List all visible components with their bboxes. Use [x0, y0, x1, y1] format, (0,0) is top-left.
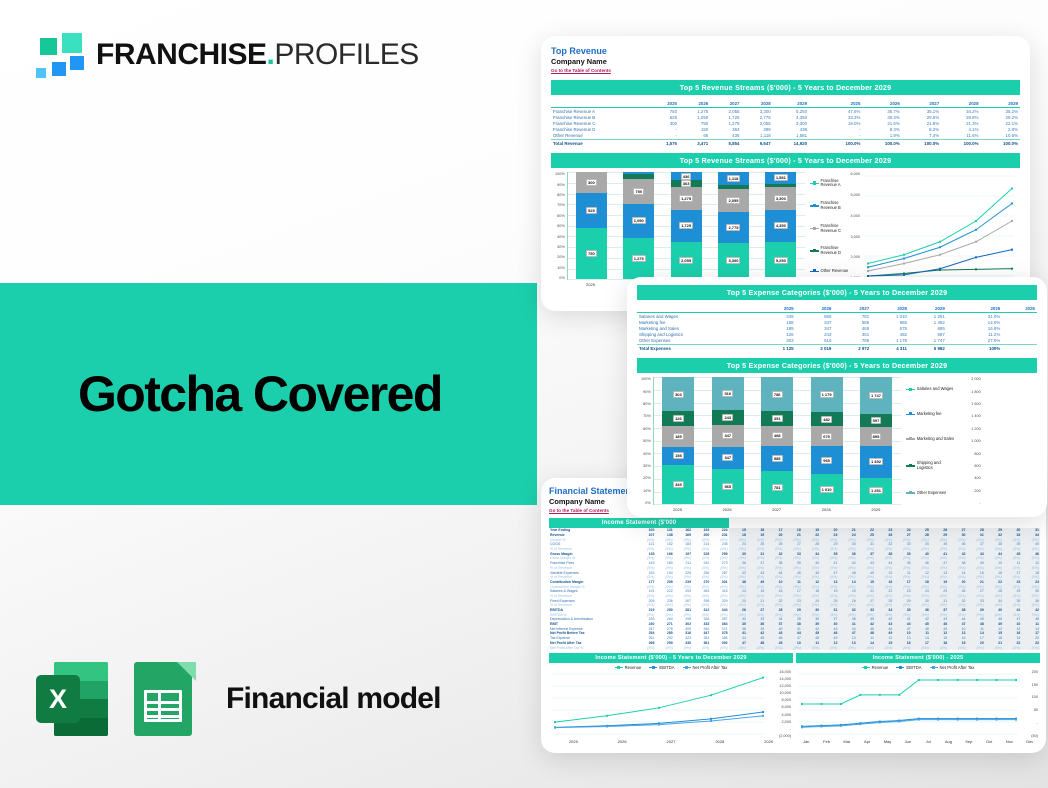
bar-segment: 3,300: [765, 187, 796, 211]
axis-tick: Dec: [1020, 739, 1040, 744]
bar-value-label: 1,050: [632, 217, 646, 224]
axis-tick: 2025: [575, 282, 606, 287]
grid-cell: (9%): [893, 645, 911, 650]
axis-tick: -: [1020, 721, 1038, 725]
axis-tick: (2,000): [767, 734, 791, 738]
bar-value-label: 597: [871, 417, 882, 424]
bar-segment: 516: [712, 377, 744, 409]
axis-tick: 600: [955, 464, 981, 468]
bar-value-label: 347: [722, 432, 733, 439]
bar-segment: 468: [761, 426, 793, 446]
bar-value-label: 189: [673, 433, 684, 440]
bar-segment: 5,250: [765, 242, 796, 280]
bar-value-label: 4,350: [774, 222, 788, 229]
axis-tick: 10,000: [767, 691, 791, 695]
excel-letter: X: [36, 675, 80, 723]
bar-stack: 1 7475978951 4921 251: [860, 377, 892, 504]
axis-tick: Sep: [959, 739, 979, 744]
axis-tick: 20%: [641, 476, 651, 480]
legend-label: Marketing fee: [917, 412, 942, 417]
legend-item: Franchise Revenue C: [810, 224, 851, 233]
brand-name-bold: FRANCHISE: [96, 38, 267, 71]
table-row: Other Expenses 303516 7861 179 1 747 27.…: [637, 338, 1037, 345]
table-header-row: 2025 2026 2027 2028 2029 2025 2026 2027 …: [551, 100, 1020, 108]
revenue-chart-legend: Franchise Revenue AFranchise Revenue BFr…: [805, 172, 851, 280]
spreadsheet-card-top-revenue[interactable]: Top Revenue Company Name Go to the Table…: [541, 36, 1030, 311]
legend-label: Other Revenue: [821, 269, 849, 274]
brand-logo: FRANCHISE.PROFILES: [30, 30, 419, 80]
axis-tick: 1 200: [955, 427, 981, 431]
grid-cell: (5%): [692, 645, 710, 650]
axis-tick: 70%: [641, 414, 651, 418]
legend-label: Shipping and Logistics: [917, 461, 955, 470]
legend-item: Franchise Revenue A: [810, 179, 851, 188]
bar-segment: 1 010: [811, 474, 843, 504]
axis-tick: Oct: [979, 739, 999, 744]
axis-tick: -: [767, 727, 791, 731]
axis-tick: 10%: [555, 266, 565, 270]
product-formats: X Financial model: [36, 662, 441, 736]
axis-tick: 0%: [641, 501, 651, 505]
bar-segment: 2,055: [718, 189, 749, 212]
bar-segment: 347: [712, 447, 744, 469]
axis-tick: 200: [955, 489, 981, 493]
bar-value-label: 1 492: [869, 458, 883, 465]
revenue-table-band: Top 5 Revenue Streams ($'000) - 5 Years …: [551, 80, 1020, 95]
bar-segment: 436: [671, 172, 702, 180]
bar-value-label: 1,581: [774, 174, 788, 181]
table-row: Net Profit After Tax %(5%)(9%)(9%)(5%)(9…: [549, 645, 1040, 650]
income-monthly-xaxis: JanFebMarAprMayJunJulAugSepOctNovDec: [796, 739, 1040, 744]
grid-cell: (5%): [637, 645, 655, 650]
axis-tick: Mar: [837, 739, 857, 744]
axis-tick: 5,000: [850, 193, 860, 197]
legend-item: Salaries and Wages: [906, 387, 955, 392]
bar-value-label: 585: [772, 455, 783, 462]
table-row: Franchise Revenue A 7501,275 2,0553,300 …: [551, 108, 1020, 115]
revenue-charts: 100%90%80%70%60%50%40%30%20%10%0% 300525…: [551, 172, 1020, 293]
bar-value-label: 1 010: [820, 486, 834, 493]
brand-wordmark: FRANCHISE.PROFILES: [96, 38, 419, 72]
axis-tick: 2027: [761, 507, 793, 512]
axis-tick: -: [955, 501, 981, 505]
grid-cell: (5%): [912, 645, 930, 650]
axis-tick: 2029: [753, 739, 785, 744]
axis-tick: 30%: [641, 464, 651, 468]
legend-item: Other Revenue: [810, 269, 851, 274]
axis-tick: 2,000: [850, 255, 860, 259]
bar-segment: 1,581: [765, 172, 796, 183]
table-total-row: Total Revenue 1,5753,471 5,8549,647 14,9…: [551, 140, 1020, 147]
grid-cell: (5%): [857, 645, 875, 650]
axis-tick: 200: [1020, 670, 1038, 674]
expense-bar-yaxis: 100%90%80%70%60%50%40%30%20%10%0%: [641, 377, 653, 505]
hero-banner: Gotcha Covered: [0, 283, 537, 505]
bar-stack: 1,5813,3004,3505,250: [765, 172, 796, 279]
page-title: Gotcha Covered: [78, 365, 442, 423]
axis-tick: 4,000: [767, 713, 791, 717]
bar-segment: 349: [662, 465, 694, 504]
bar-value-label: 126: [673, 415, 684, 422]
bar-stack: 300525750: [576, 172, 607, 279]
bar-segment: 126: [662, 411, 694, 425]
axis-tick: 1 000: [955, 439, 981, 443]
grid-cell: (9%): [655, 645, 673, 650]
bar-segment: 675: [811, 426, 843, 446]
bar-segment: 781: [761, 471, 793, 504]
bar-segment: 1,118: [718, 172, 749, 184]
axis-tick: 3,000: [850, 235, 860, 239]
bar-value-label: 1,118: [727, 175, 741, 182]
axis-tick: 1 800: [955, 390, 981, 394]
bar-segment: 1,050: [623, 204, 654, 238]
axis-tick: Jun: [898, 739, 918, 744]
expense-chart-legend: Salaries and WagesMarketing feeMarketing…: [901, 377, 955, 505]
bar-value-label: 5,250: [774, 257, 788, 264]
table-total-row: Total Expenses 1 1252 019 2 9724 311 5 9…: [637, 345, 1037, 352]
bar-value-label: 3,300: [774, 195, 788, 202]
axis-tick: Jul: [918, 739, 938, 744]
row-label: Net Profit After Tax %: [549, 645, 637, 650]
axis-tick: 60%: [641, 427, 651, 431]
bar-segment: 1,275: [623, 238, 654, 279]
bar-segment: 585: [761, 446, 793, 471]
axis-tick: 6,000: [767, 705, 791, 709]
table-row: Other Revenue -66 4361,118 1,581 -1.9% 7…: [551, 133, 1020, 140]
axis-tick: Jan: [796, 739, 816, 744]
legend-item: Shipping and Logistics: [906, 461, 955, 470]
card-revenue-company: Company Name: [551, 57, 1020, 66]
grid-cell: (9%): [674, 645, 692, 650]
axis-tick: 2025: [661, 507, 693, 512]
brand-name-thin: PROFILES: [274, 38, 418, 71]
bar-segment: 1 179: [811, 377, 843, 412]
revenue-table: 2025 2026 2027 2028 2029 2025 2026 2027 …: [551, 100, 1020, 146]
bar-value-label: 1 747: [869, 392, 883, 399]
axis-tick: 14,000: [767, 677, 791, 681]
bar-segment: 4,350: [765, 210, 796, 241]
bar-stack: 1,1182,0552,7753,300: [718, 172, 749, 279]
axis-tick: 2026: [711, 507, 743, 512]
income-statement-monthly-band: Income Statement ($'000) - 2025: [796, 653, 1040, 663]
bar-value-label: 525: [586, 207, 597, 214]
axis-tick: 4,000: [850, 214, 860, 218]
legend-label: Marketing and Sales: [917, 437, 954, 442]
axis-tick: 2 000: [955, 377, 981, 381]
axis-tick: 8,000: [767, 698, 791, 702]
bar-value-label: 516: [722, 390, 733, 397]
axis-tick: 90%: [641, 390, 651, 394]
bar-segment: 750: [576, 228, 607, 279]
legend-item: Franchise Revenue D: [810, 246, 851, 255]
bar-value-label: 895: [871, 433, 882, 440]
bar-value-label: 2,055: [726, 197, 740, 204]
table-header-row: 20252026 20272028 2029 20252026: [637, 305, 1037, 313]
expense-table-band: Top 5 Expense Categories ($'000) - 5 Yea…: [637, 285, 1037, 300]
bar-value-label: 351: [772, 415, 783, 422]
bar-segment: 1 747: [860, 377, 892, 414]
grid-cell: (9%): [729, 645, 747, 650]
income-5y-chart: [549, 670, 767, 738]
bar-value-label: 158: [673, 452, 684, 459]
bar-value-label: 1 251: [869, 487, 883, 494]
legend-item: Marketing and Sales: [906, 437, 955, 442]
bar-segment: 597: [860, 414, 892, 427]
grid-cell: (9%): [838, 645, 856, 650]
revenue-chart-band: Top 5 Revenue Streams ($'000) - 5 Years …: [551, 153, 1020, 168]
bar-value-label: 1,275: [632, 255, 646, 262]
axis-tick: 2028: [810, 507, 842, 512]
bar-segment: 1 251: [860, 478, 892, 505]
grid-cell: (9%): [710, 645, 728, 650]
bar-segment: 1,275: [671, 187, 702, 210]
axis-tick: 16,000: [767, 670, 791, 674]
grid-cell: (9%): [820, 645, 838, 650]
income-5y-yaxis: 16,00014,00012,00010,0008,0006,0004,0002…: [767, 670, 793, 738]
bar-value-label: 1,275: [679, 195, 693, 202]
bar-segment: 243: [712, 410, 744, 425]
bar-segment: 565: [712, 469, 744, 505]
axis-tick: 1 600: [955, 402, 981, 406]
axis-tick: 10%: [641, 489, 651, 493]
axis-tick: 100%: [641, 377, 651, 381]
bar-stack: 4363631,2751,7252,055: [671, 172, 702, 279]
bar-value-label: 781: [772, 484, 783, 491]
axis-tick: 90%: [555, 183, 565, 187]
bar-stack: 1 1794826759651 010: [811, 377, 843, 504]
grid-cell: (9%): [930, 645, 948, 650]
bar-value-label: 436: [681, 173, 692, 180]
bar-stack: 516243347347565: [712, 377, 744, 504]
bar-value-label: 965: [821, 457, 832, 464]
grid-cell: (5%): [966, 645, 984, 650]
income-statement-5y-band: Income Statement ($'000) - 5 Years to De…: [549, 653, 793, 663]
bar-value-label: 300: [586, 179, 597, 186]
axis-tick: 40%: [641, 452, 651, 456]
axis-tick: 2029: [860, 507, 892, 512]
axis-tick: 70%: [555, 203, 565, 207]
bar-segment: 1,725: [671, 210, 702, 242]
bar-value-label: 468: [772, 432, 783, 439]
bar-segment: 3,300: [718, 243, 749, 280]
axis-tick: 800: [955, 452, 981, 456]
bar-segment: 2,055: [671, 242, 702, 280]
axis-tick: 40%: [555, 235, 565, 239]
revenue-line-chart: [862, 172, 1016, 280]
bar-value-label: 482: [821, 416, 832, 423]
bar-segment: 750: [623, 179, 654, 203]
bar-segment: 786: [761, 377, 793, 411]
table-row: Salaries and Wages 349565 7811 010 1 251…: [637, 313, 1037, 320]
bar-value-label: 786: [772, 391, 783, 398]
grid-cell: (9%): [1003, 645, 1021, 650]
axis-tick: 2026: [606, 739, 638, 744]
bar-segment: 300: [576, 172, 607, 192]
google-sheets-icon: [128, 662, 200, 736]
bar-value-label: 349: [673, 481, 684, 488]
table-of-contents-link[interactable]: Go to the Table of Contents: [551, 68, 1020, 73]
bar-value-label: 1,725: [679, 222, 693, 229]
bar-segment: 351: [761, 411, 793, 426]
legend-label: Franchise Revenue D: [821, 246, 851, 255]
expense-table: 20252026 20272028 2029 20252026 Salaries…: [637, 305, 1037, 351]
axis-tick: 100: [1020, 695, 1038, 699]
axis-tick: Aug: [938, 739, 958, 744]
axis-tick: 20%: [555, 255, 565, 259]
bar-segment: 482: [811, 412, 843, 426]
income-monthly-chart: [796, 670, 1020, 738]
bar-segment: 525: [576, 193, 607, 229]
bar-segment: 1 492: [860, 446, 892, 478]
grid-cell: (9%): [875, 645, 893, 650]
revenue-bar-yaxis: 100%90%80%70%60%50%40%30%20%10%0%: [555, 172, 567, 280]
excel-icon: X: [36, 662, 108, 736]
bar-value-label: 565: [722, 483, 733, 490]
axis-tick: 2,000: [767, 720, 791, 724]
expense-chart-band: Top 5 Expense Categories ($'000) - 5 Yea…: [637, 358, 1037, 373]
product-label: Financial model: [226, 682, 441, 716]
spreadsheet-card-expenses[interactable]: Top 5 Expense Categories ($'000) - 5 Yea…: [627, 277, 1047, 517]
grid-cell: (9%): [948, 645, 966, 650]
axis-tick: (50): [1020, 734, 1038, 738]
axis-tick: 50: [1020, 708, 1038, 712]
legend-label: Franchise Revenue B: [821, 201, 851, 210]
axis-tick: Nov: [999, 739, 1019, 744]
axis-tick: 80%: [641, 402, 651, 406]
axis-tick: 400: [955, 476, 981, 480]
bar-segment: 303: [662, 377, 694, 411]
axis-tick: May: [877, 739, 897, 744]
bar-value-label: 303: [673, 391, 684, 398]
bar-stack: 7501,0501,275: [623, 172, 654, 279]
axis-tick: Apr: [857, 739, 877, 744]
legend-item: Franchise Revenue B: [810, 201, 851, 210]
legend-label: Franchise Revenue A: [821, 179, 851, 188]
card-revenue-title: Top Revenue: [551, 46, 1020, 56]
bar-value-label: 750: [633, 188, 644, 195]
axis-tick: 2025: [558, 739, 590, 744]
spreadsheet-card-financial-statements[interactable]: Financial Statements S Company Name Go t…: [541, 478, 1046, 753]
bar-segment: 965: [811, 446, 843, 474]
bar-value-label: 2,775: [726, 224, 740, 231]
bar-segment: 347: [712, 425, 744, 447]
grid-cell: (9%): [985, 645, 1003, 650]
bar-value-label: 2,055: [679, 257, 693, 264]
axis-tick: 100%: [555, 172, 565, 176]
expense-bar-xaxis: 20252026202720282029: [653, 507, 901, 512]
axis-tick: 80%: [555, 193, 565, 197]
bar-segment: 158: [662, 447, 694, 465]
axis-tick: Feb: [816, 739, 836, 744]
logo-mark-icon: [30, 30, 84, 80]
bar-value-label: 750: [586, 250, 597, 257]
income-5y-xaxis: 20252026202720282029: [549, 739, 793, 744]
expense-chart: 100%90%80%70%60%50%40%30%20%10%0% 303126…: [637, 377, 1037, 517]
grid-cell: (5%): [747, 645, 765, 650]
bar-value-label: 3,300: [726, 257, 740, 264]
expense-secondary-yaxis: 2 0001 8001 6001 4001 2001 0008006004002…: [955, 377, 983, 505]
axis-tick: 2027: [655, 739, 687, 744]
bar-segment: 189: [662, 426, 694, 447]
income-monthly-yaxis: 20015010050-(50): [1020, 670, 1040, 738]
grid-cell: (5%): [1021, 645, 1040, 650]
bar-stack: 303126189158349: [662, 377, 694, 504]
axis-tick: 30%: [555, 245, 565, 249]
axis-tick: 150: [1020, 683, 1038, 687]
bar-value-label: 675: [821, 433, 832, 440]
revenue-line-yaxis: 6,0005,0004,0003,0002,0001,000: [850, 172, 862, 280]
axis-tick: 0%: [555, 276, 565, 280]
income-statement-band: Income Statement ($'000: [549, 518, 729, 528]
legend-item: Other Expenses: [906, 491, 955, 496]
legend-label: Salaries and Wages: [917, 387, 953, 392]
bar-segment: 895: [860, 427, 892, 446]
legend-label: Other Expenses: [917, 491, 946, 496]
bar-value-label: 1 179: [820, 391, 834, 398]
axis-tick: 12,000: [767, 684, 791, 688]
axis-tick: 60%: [555, 214, 565, 218]
axis-tick: 50%: [555, 224, 565, 228]
axis-tick: 6,000: [850, 172, 860, 176]
axis-tick: 50%: [641, 439, 651, 443]
bar-value-label: 243: [722, 414, 733, 421]
grid-cell: (9%): [784, 645, 802, 650]
legend-item: Marketing fee: [906, 412, 955, 417]
grid-cell: (5%): [802, 645, 820, 650]
income-statement-grid: Year Ending10013116219322415161718192021…: [549, 528, 1040, 650]
bar-segment: 363: [671, 180, 702, 187]
axis-tick: 2028: [704, 739, 736, 744]
legend-label: Franchise Revenue C: [821, 224, 851, 233]
bar-value-label: 347: [722, 454, 733, 461]
bar-segment: 2,775: [718, 212, 749, 243]
grid-cell: (9%): [765, 645, 783, 650]
bar-stack: 786351468585781: [761, 377, 793, 504]
axis-tick: 1 400: [955, 414, 981, 418]
